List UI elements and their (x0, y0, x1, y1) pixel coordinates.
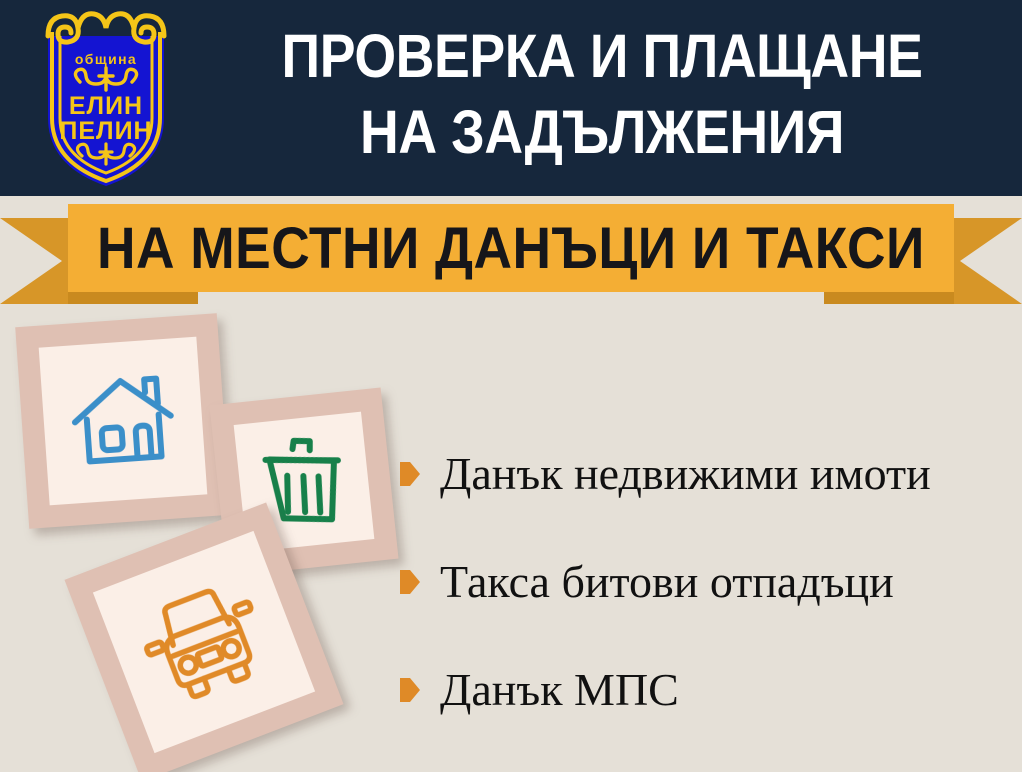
car-icon (124, 567, 284, 717)
list-item[interactable]: Данък недвижими имоти (400, 420, 1010, 528)
poster-canvas: община ЕЛИН ПЕЛИН ПРОВЕРКА И ПЛАЩАНЕ НА … (0, 0, 1022, 772)
arrow-bullet-icon (400, 678, 420, 702)
list-item[interactable]: Данък МПС (400, 636, 1010, 744)
stamp-card-real-estate (15, 313, 231, 529)
arrow-bullet-icon (400, 570, 420, 594)
ribbon-band: НА МЕСТНИ ДАНЪЦИ И ТАКСИ (68, 204, 954, 292)
page-title: ПРОВЕРКА И ПЛАЩАНЕ НА ЗАДЪЛЖЕНИЯ (245, 18, 960, 170)
list-item-label: Данък недвижими имоти (440, 451, 931, 497)
ribbon-banner: НА МЕСТНИ ДАНЪЦИ И ТАКСИ (0, 196, 1022, 308)
municipality-emblem-icon: община ЕЛИН ПЕЛИН (22, 6, 190, 190)
emblem-line3: ПЕЛИН (59, 117, 152, 145)
arrow-bullet-icon (400, 462, 420, 486)
tax-types-list: Данък недвижими имоти Такса битови отпад… (400, 420, 1010, 744)
emblem-line1: община (75, 51, 137, 67)
ribbon-subtitle: НА МЕСТНИ ДАНЪЦИ И ТАКСИ (97, 215, 925, 282)
page-title-line-1: ПРОВЕРКА И ПЛАЩАНЕ (245, 18, 960, 94)
emblem-line2: ЕЛИН (69, 92, 143, 120)
list-item-label: Такса битови отпадъци (440, 559, 894, 605)
page-title-line-2: НА ЗАДЪЛЖЕНИЯ (245, 94, 960, 170)
stamp-paper (39, 337, 208, 506)
list-item[interactable]: Такса битови отпадъци (400, 528, 1010, 636)
list-item-label: Данък МПС (440, 667, 679, 713)
house-icon (59, 357, 187, 485)
stamp-paper (93, 531, 315, 753)
